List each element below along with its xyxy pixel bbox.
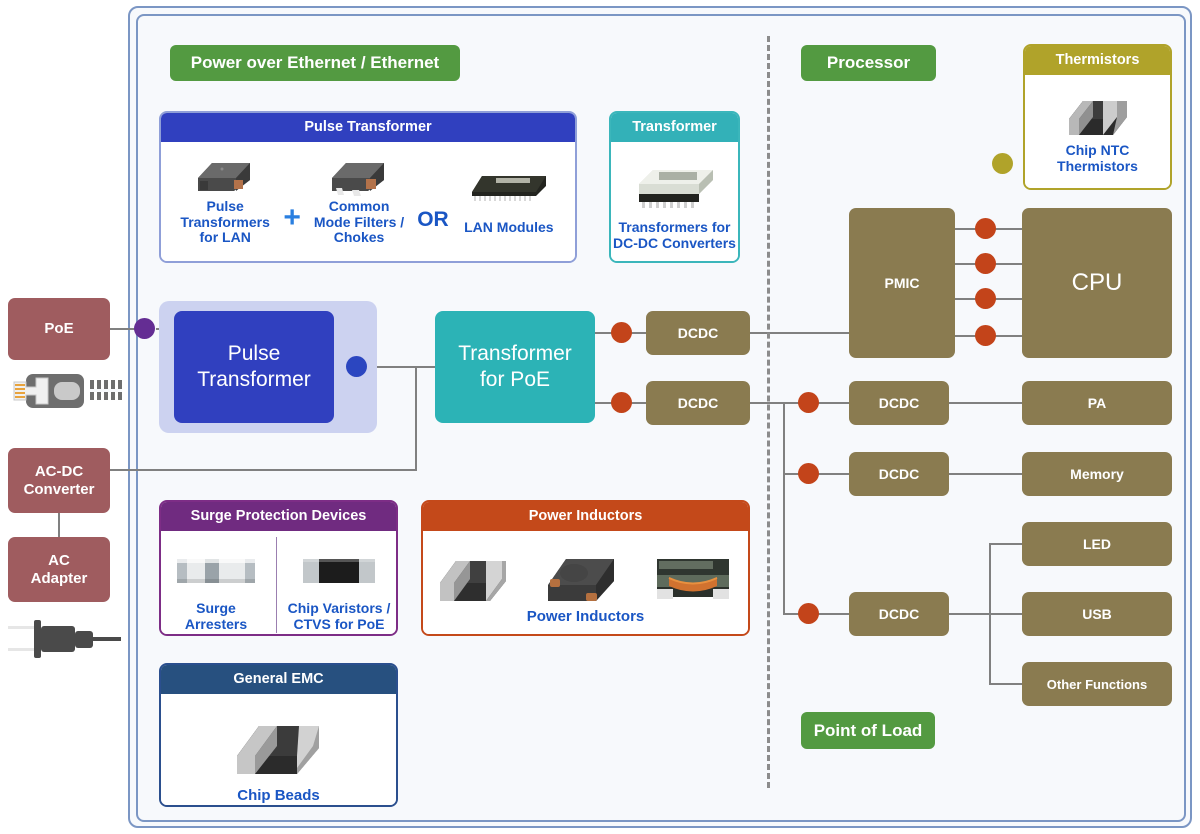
node-dcdc3-input [798, 392, 819, 413]
node-dcdc4-input [798, 463, 819, 484]
card-item-lan-modules[interactable]: LAN Modules [449, 142, 569, 236]
node-pulse-transformer-output [346, 356, 367, 377]
card-thermistors-header: Thermistors [1025, 46, 1170, 75]
wire-pulse-down-branch [415, 366, 417, 471]
block-dcdc-4[interactable]: DCDC [849, 452, 949, 496]
block-transformer-for-poe[interactable]: Transformer for PoE [435, 311, 595, 423]
block-dcdc-1[interactable]: DCDC [646, 311, 750, 355]
wire-dcdc3-to-pa [949, 402, 1022, 404]
ac-plug-icon [4, 612, 126, 664]
wire-fanout-to-other [989, 683, 1022, 685]
block-dcdc-3[interactable]: DCDC [849, 381, 949, 425]
dcdc-transformer-icon [629, 164, 721, 212]
block-led[interactable]: LED [1022, 522, 1172, 566]
section-label-processor: Processor [801, 45, 936, 81]
rj45-connector-icon [8, 370, 126, 412]
card-item-label: LAN Modules [464, 220, 553, 236]
card-item-label: Surge Arresters [185, 601, 247, 632]
card-item-label: Transformers for DC-DC Converters [613, 220, 736, 251]
wire-dcdc1-to-pmic [750, 332, 850, 334]
operator-or-label: OR [417, 208, 449, 232]
card-item-chip-ntc-thermistors[interactable]: Chip NTC Thermistors [1025, 75, 1170, 174]
block-memory[interactable]: Memory [1022, 452, 1172, 496]
block-dcdc-2[interactable]: DCDC [646, 381, 750, 425]
wire-fanout-to-led [989, 543, 1022, 545]
section-divider-dashed [767, 36, 770, 788]
external-source-ac-dc-converter: AC-DC Converter [8, 448, 110, 513]
card-item-label: Chip Varistors / CTVS for PoE [288, 601, 391, 632]
card-item-chip-varistors-ctvs[interactable]: Chip Varistors / CTVS for PoE [283, 531, 395, 635]
node-thermistor [992, 153, 1013, 174]
block-cpu[interactable]: CPU [1022, 208, 1172, 358]
card-pulse-transformer-header: Pulse Transformer [161, 113, 575, 142]
card-transformer: Transformer Transformers [609, 111, 740, 263]
node-dcdc1-input [611, 322, 632, 343]
molded-inductor-icon [536, 549, 628, 605]
card-item-label: Chip Beads [237, 788, 320, 805]
operator-plus-icon: + [283, 201, 301, 235]
wound-inductor-icon [647, 549, 739, 605]
card-power-inductors: Power Inductors [421, 500, 750, 636]
block-other-functions[interactable]: Other Functions [1022, 662, 1172, 706]
node-pmic-cpu-rail-3 [975, 288, 996, 309]
surge-arrester-icon [169, 549, 263, 593]
node-pmic-cpu-rail-1 [975, 218, 996, 239]
card-item-transformers-for-dcdc[interactable]: Transformers for DC-DC Converters [611, 142, 738, 251]
node-dcdc5-input [798, 603, 819, 624]
wire-fanout-vertical [989, 543, 991, 684]
node-poe-input [134, 318, 155, 339]
common-mode-choke-icon [322, 150, 396, 196]
chip-bead-icon [225, 716, 333, 778]
external-source-ac-adapter: AC Adapter [8, 537, 110, 602]
card-item-label: Common Mode Filters / Chokes [314, 199, 404, 246]
wire-dcdc4-to-memory [949, 473, 1022, 475]
chip-inductor-icon [432, 549, 518, 605]
chip-varistor-icon [297, 549, 381, 593]
block-pulse-transformer[interactable]: Pulse Transformer [174, 311, 334, 423]
block-pmic[interactable]: PMIC [849, 208, 955, 358]
section-label-point-of-load: Point of Load [801, 712, 935, 749]
card-thermistors: Thermistors Chip NTC Thermistors [1023, 44, 1172, 190]
card-general-emc-header: General EMC [161, 665, 396, 694]
card-item-common-mode-filters-chokes[interactable]: Common Mode Filters / Chokes [301, 142, 417, 246]
wire-acdc-to-branch [110, 469, 417, 471]
node-pmic-cpu-rail-4 [975, 325, 996, 346]
wire-acdc-to-acadapter [58, 513, 60, 537]
block-pa[interactable]: PA [1022, 381, 1172, 425]
card-surge-protection-header: Surge Protection Devices [161, 502, 396, 531]
lan-module-icon [466, 166, 552, 206]
card-surge-protection-devices: Surge Protection Devices Surge Arresters [159, 500, 398, 636]
card-power-inductors-header: Power Inductors [423, 502, 748, 531]
section-label-poe-ethernet: Power over Ethernet / Ethernet [170, 45, 460, 81]
card-item-divider [276, 537, 277, 633]
wire-power-bus-vertical [783, 402, 785, 614]
node-dcdc2-input [611, 392, 632, 413]
card-item-pulse-transformers-for-lan[interactable]: Pulse Transformers for LAN [167, 142, 283, 246]
node-pmic-cpu-rail-2 [975, 253, 996, 274]
inductor-chip-icon [188, 150, 262, 196]
card-item-label: Power Inductors [527, 609, 645, 626]
card-general-emc: General EMC Chip Beads [159, 663, 398, 807]
chip-ntc-icon [1061, 91, 1135, 137]
card-item-label: Pulse Transformers for LAN [180, 199, 269, 246]
wire-dcdc5-to-usb [949, 613, 1022, 615]
block-usb[interactable]: USB [1022, 592, 1172, 636]
card-item-surge-arresters[interactable]: Surge Arresters [162, 531, 270, 635]
external-source-poe: PoE [8, 298, 110, 360]
card-transformer-header: Transformer [611, 113, 738, 142]
card-item-label: Chip NTC Thermistors [1057, 143, 1138, 174]
card-pulse-transformer: Pulse Transformer Pulse Transformers for… [159, 111, 577, 263]
card-item-chip-beads[interactable]: Chip Beads [161, 694, 396, 805]
block-dcdc-5[interactable]: DCDC [849, 592, 949, 636]
